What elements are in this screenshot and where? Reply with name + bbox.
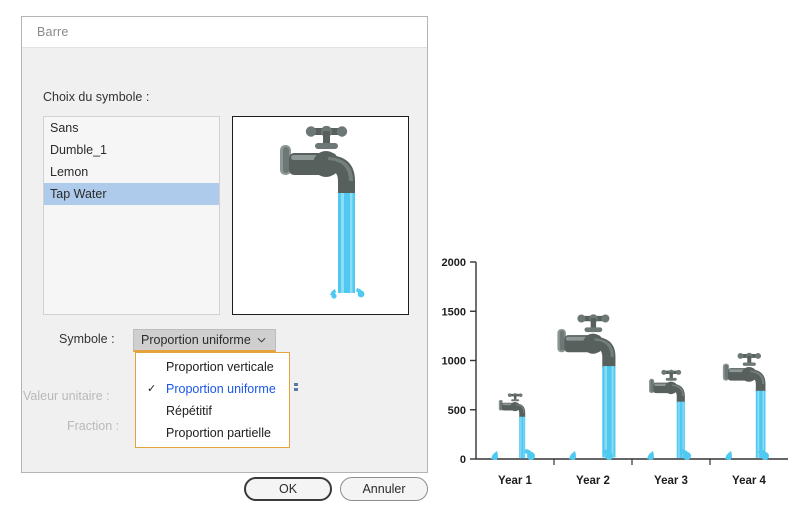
dialog-body: Choix du symbole : Sans Dumble_1 Lemon T… xyxy=(22,48,427,472)
dropdown-option-label: Proportion uniforme xyxy=(166,382,276,396)
x-axis-category-label: Year 3 xyxy=(654,475,688,487)
list-item[interactable]: Dumble_1 xyxy=(44,139,219,161)
ok-button[interactable]: OK xyxy=(244,477,332,501)
x-axis-category-label: Year 4 xyxy=(732,475,766,487)
dialog-title: Barre xyxy=(22,25,69,39)
dropdown-option-proportion-uniforme[interactable]: ✓ Proportion uniforme xyxy=(136,378,289,400)
symbole-select-value: Proportion uniforme xyxy=(141,333,251,347)
list-item-selected[interactable]: Tap Water xyxy=(44,183,219,205)
chevron-down-icon xyxy=(257,336,266,345)
dropdown-option-label: Proportion verticale xyxy=(166,360,274,374)
screen: Barre Choix du symbole : Sans Dumble_1 L… xyxy=(0,0,800,510)
spinner-stub-icon[interactable] xyxy=(294,382,299,393)
chart-canvas: 0500100015002000Year 1Year 2Year 3Year 4 xyxy=(432,236,792,498)
pictorial-bar-chart: 0500100015002000Year 1Year 2Year 3Year 4 xyxy=(432,236,792,498)
bar-symbol-year-2 xyxy=(557,314,615,457)
symbol-choice-label: Choix du symbole : xyxy=(43,90,149,104)
dropdown-option-proportion-partielle[interactable]: Proportion partielle xyxy=(136,422,289,444)
cancel-button[interactable]: Annuler xyxy=(340,477,428,501)
y-tick-label: 0 xyxy=(460,454,466,466)
symbole-select[interactable]: Proportion uniforme xyxy=(133,329,276,352)
tap-water-preview-icon xyxy=(233,117,407,313)
list-item[interactable]: Lemon xyxy=(44,161,219,183)
symbol-preview-pane xyxy=(232,116,409,315)
y-tick-label: 500 xyxy=(448,405,466,417)
fraction-label: Fraction : xyxy=(67,419,119,433)
ok-button-label: OK xyxy=(279,482,297,496)
y-tick-label: 1500 xyxy=(442,306,466,318)
barre-dialog: Barre Choix du symbole : Sans Dumble_1 L… xyxy=(21,16,428,473)
symbol-listbox[interactable]: Sans Dumble_1 Lemon Tap Water xyxy=(43,116,220,315)
x-axis-category-label: Year 1 xyxy=(498,475,532,487)
cancel-button-label: Annuler xyxy=(362,482,405,496)
list-item[interactable]: Sans xyxy=(44,117,219,139)
bar-symbol-year-4 xyxy=(723,353,766,458)
bar-symbol-year-3 xyxy=(649,370,685,458)
dropdown-option-repetitif[interactable]: Répétitif xyxy=(136,400,289,422)
bar-symbol-year-1 xyxy=(499,393,525,458)
x-axis-category-label: Year 2 xyxy=(576,475,610,487)
check-icon: ✓ xyxy=(147,378,156,400)
dropdown-option-proportion-verticale[interactable]: Proportion verticale xyxy=(136,356,289,378)
y-tick-label: 2000 xyxy=(442,257,466,269)
dropdown-option-label: Proportion partielle xyxy=(166,426,271,440)
valeur-unitaire-label: Valeur unitaire : xyxy=(23,389,110,403)
symbole-dropdown-menu[interactable]: Proportion verticale ✓ Proportion unifor… xyxy=(135,352,290,448)
dialog-titlebar: Barre xyxy=(22,17,427,48)
symbole-label: Symbole : xyxy=(59,332,115,346)
y-tick-label: 1000 xyxy=(442,356,466,368)
dropdown-option-label: Répétitif xyxy=(166,404,212,418)
